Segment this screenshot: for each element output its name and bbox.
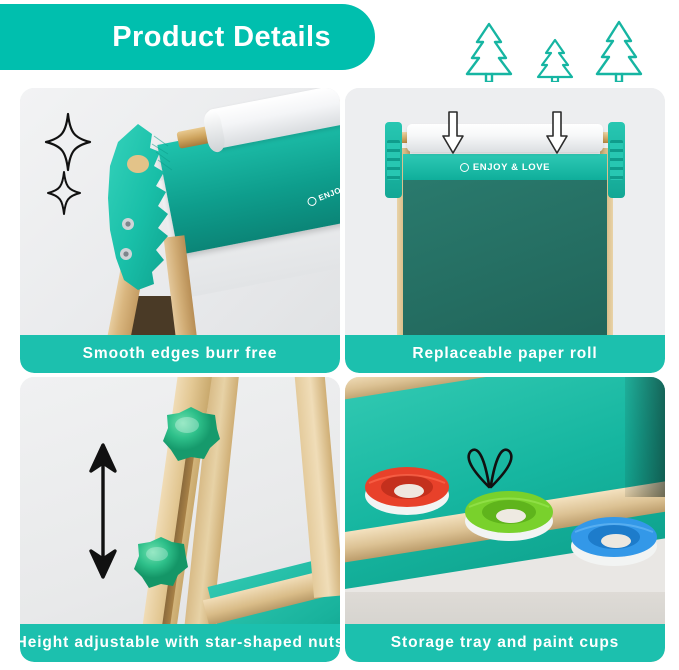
brand-name: ENJOY & LOVE xyxy=(473,162,550,173)
details-grid: ENJOY & LOVE xyxy=(20,88,665,662)
caption-text: Storage tray and paint cups xyxy=(391,634,619,652)
card-caption: Height adjustable with star-shaped nuts xyxy=(20,624,340,662)
title-banner: Product Details xyxy=(0,4,375,70)
product-photo-storage-tray xyxy=(345,377,665,662)
down-arrow-icon xyxy=(544,110,570,161)
teal-clip-right xyxy=(608,122,625,198)
detail-card-height-adjustable[interactable]: Height adjustable with star-shaped nuts xyxy=(20,377,340,662)
brand-name: ENJOY & LOVE xyxy=(318,170,340,202)
circle-logo-icon xyxy=(460,163,469,172)
cup-handle-icon xyxy=(455,445,525,494)
circle-logo-icon xyxy=(306,196,318,208)
down-arrow-icon xyxy=(440,110,466,161)
page-header: Product Details xyxy=(0,0,679,90)
card-caption: Storage tray and paint cups xyxy=(345,624,665,662)
brand-logo: ENJOY & LOVE xyxy=(460,162,550,173)
detail-card-smooth-edges[interactable]: ENJOY & LOVE xyxy=(20,88,340,373)
card-caption: Smooth edges burr free xyxy=(20,335,340,373)
caption-text: Replaceable paper roll xyxy=(412,345,597,363)
star-knob xyxy=(160,405,222,470)
sparkle-icon xyxy=(38,110,110,223)
paper-roll xyxy=(407,124,603,152)
red-paint-cup xyxy=(361,455,453,522)
brand-logo: ENJOY & LOVE xyxy=(306,170,340,207)
page-title: Product Details xyxy=(112,21,331,54)
product-details-page: Product Details xyxy=(0,0,679,670)
detail-card-paper-roll[interactable]: ENJOY & LOVE Re xyxy=(345,88,665,373)
blue-paint-cup xyxy=(567,503,661,572)
star-knob xyxy=(132,535,190,596)
up-down-arrow-icon xyxy=(86,441,120,586)
product-photo-height-adjustable xyxy=(20,377,340,662)
teal-clip-left xyxy=(385,122,402,198)
product-photo-paper-roll: ENJOY & LOVE xyxy=(345,88,665,373)
detail-card-storage-tray[interactable]: Storage tray and paint cups xyxy=(345,377,665,662)
product-photo-smooth-edges: ENJOY & LOVE xyxy=(20,88,340,373)
pine-tree-decoration xyxy=(455,20,655,82)
caption-text: Smooth edges burr free xyxy=(83,345,278,363)
caption-text: Height adjustable with star-shaped nuts xyxy=(20,634,340,652)
card-caption: Replaceable paper roll xyxy=(345,335,665,373)
shadow-edge xyxy=(625,377,665,497)
teal-header-rail: ENJOY & LOVE xyxy=(403,154,607,180)
